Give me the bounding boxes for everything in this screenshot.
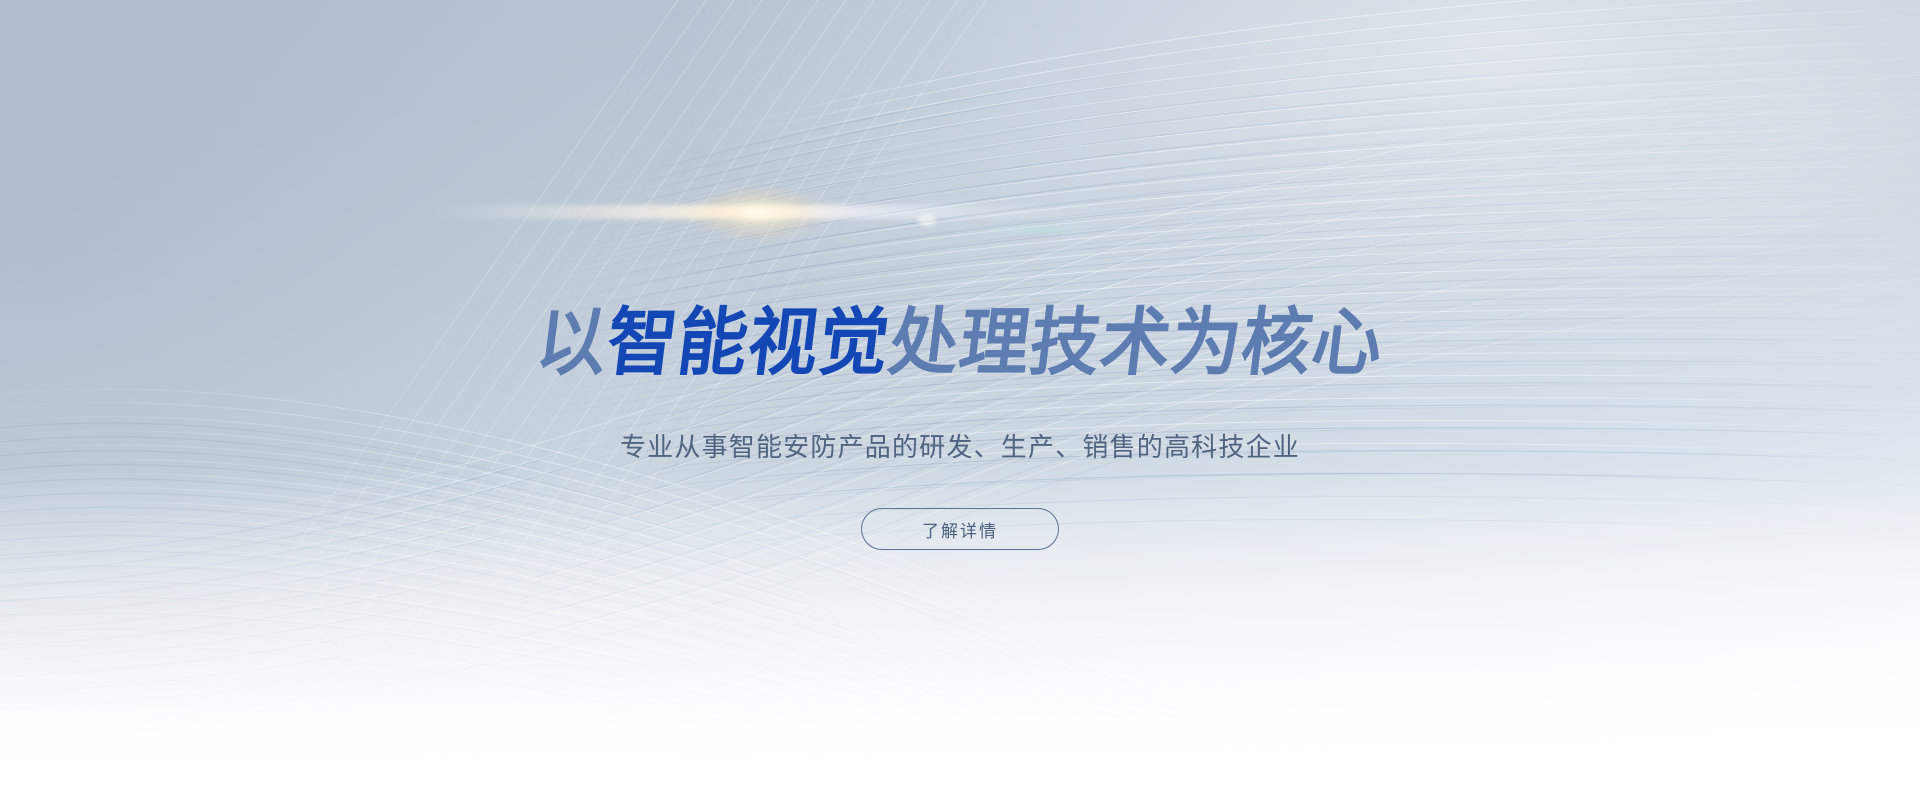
headline-segment-emphasis: 智能视觉 — [602, 300, 895, 386]
hero-banner: 以智能视觉处理技术为核心 专业从事智能安防产品的研发、生产、销售的高科技企业 了… — [0, 0, 1920, 800]
hero-headline: 以智能视觉处理技术为核心 — [53, 306, 1867, 380]
headline-segment-prefix: 以 — [532, 300, 613, 386]
hero-subtitle: 专业从事智能安防产品的研发、生产、销售的高科技企业 — [0, 432, 1920, 466]
hero-content: 以智能视觉处理技术为核心 专业从事智能安防产品的研发、生产、销售的高科技企业 了… — [0, 0, 1920, 800]
headline-segment-suffix: 处理技术为核心 — [884, 300, 1388, 386]
learn-more-button[interactable]: 了解详情 — [861, 508, 1059, 550]
cta-container: 了解详情 — [0, 508, 1920, 550]
